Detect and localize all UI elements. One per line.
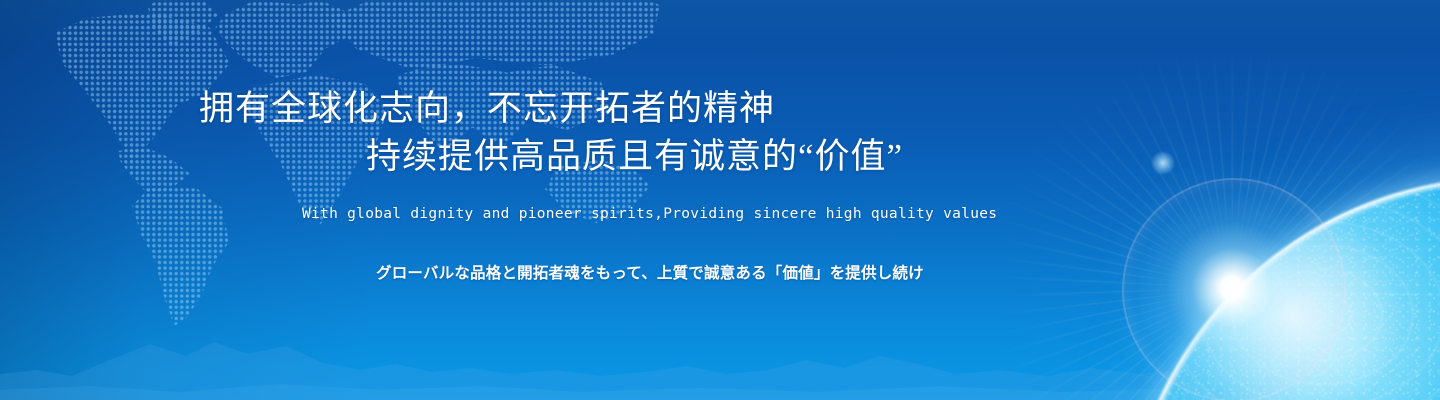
hero-banner: 拥有全球化志向，不忘开拓者的精神 持续提供高品质且有诚意的“价值” With g… xyxy=(0,0,1440,400)
sun-flare-core xyxy=(1102,158,1362,400)
map-region-north-america xyxy=(55,12,230,162)
headline-line-1: 拥有全球化志向，不忘开拓者的精神 xyxy=(199,91,775,126)
banner-copy: 拥有全球化志向，不忘开拓者的精神 持续提供高品质且有诚意的“价值” With g… xyxy=(0,0,1100,400)
map-region-south-asia xyxy=(395,60,610,185)
map-region-central-america xyxy=(118,148,190,196)
earth-globe xyxy=(1020,0,1440,400)
mountain-ridge-silhouette xyxy=(0,330,1440,400)
map-region-north-asia xyxy=(330,0,660,82)
subtitle-japanese: グローバルな品格と開拓者魂をもって、上質で誠意ある「価値」を提供し続け xyxy=(376,261,924,283)
background-vignette xyxy=(0,0,1440,400)
map-region-africa xyxy=(245,75,395,225)
dotted-world-map xyxy=(0,0,800,335)
map-region-australia xyxy=(545,160,650,226)
sun-flare-ring xyxy=(1122,178,1346,400)
globe-surface-texture xyxy=(1125,178,1440,400)
globe-rim-highlight xyxy=(1125,178,1440,400)
globe-sphere xyxy=(1125,178,1440,400)
subtitle-english: With global dignity and pioneer spirits,… xyxy=(302,206,997,222)
headline-line-2: 持续提供高品质且有诚意的“价值” xyxy=(366,139,903,174)
lens-flare-dot xyxy=(1151,151,1175,175)
globe-latitude-bands xyxy=(1125,178,1440,400)
map-region-europe xyxy=(215,0,350,78)
map-region-greenland xyxy=(148,0,218,46)
sun-flare-rays xyxy=(1002,58,1440,400)
map-region-south-america xyxy=(128,186,233,326)
